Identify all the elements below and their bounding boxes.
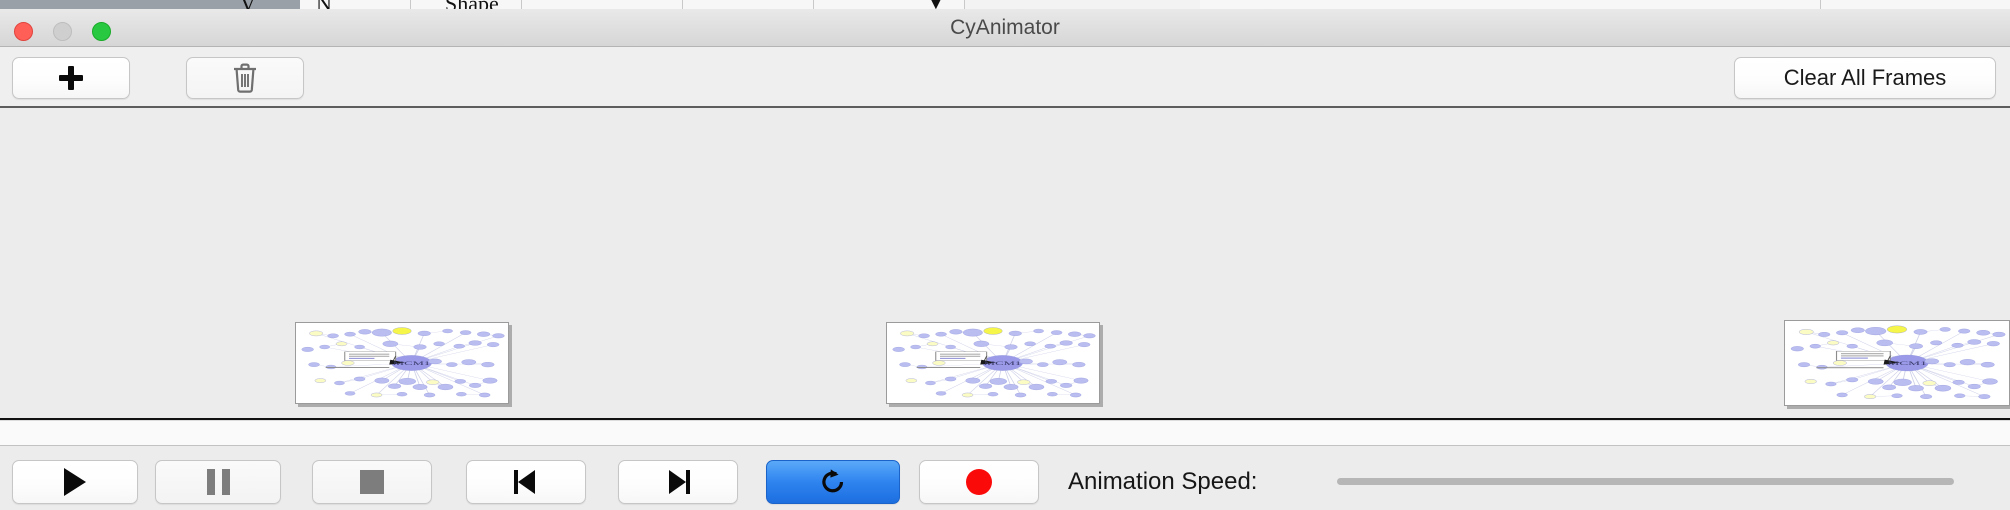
stop-icon [360, 470, 384, 494]
skip-to-start-button[interactable] [466, 460, 586, 504]
hub-node-label: MCM1 [984, 361, 1022, 366]
pause-icon [207, 469, 230, 495]
hub-node-label: MCM1 [1887, 361, 1926, 366]
hub-node-label: MCM1 [393, 361, 431, 366]
animation-speed-slider[interactable] [1337, 478, 1954, 485]
skip-forward-icon [665, 469, 691, 495]
horizontal-scrollbar[interactable] [0, 420, 2010, 446]
record-icon [966, 469, 992, 495]
timeline-frame-thumbnail[interactable]: MCM1 [886, 322, 1100, 404]
stop-button[interactable] [312, 460, 432, 504]
network-graph: MCM1 [296, 323, 508, 403]
add-frame-button[interactable] [12, 57, 130, 99]
plus-icon [59, 66, 83, 90]
skip-back-icon [513, 469, 539, 495]
network-graph: MCM1 [1785, 321, 2009, 405]
loop-button[interactable] [766, 460, 900, 504]
timeline-frame-thumbnail[interactable]: MCM1 [1784, 320, 2010, 406]
play-button[interactable] [12, 460, 138, 504]
delete-frame-button[interactable] [186, 57, 304, 99]
play-icon [64, 468, 86, 496]
skip-to-end-button[interactable] [618, 460, 738, 504]
loop-icon [818, 467, 848, 497]
pause-button[interactable] [155, 460, 281, 504]
timeline-frame-thumbnail[interactable]: MCM1 [295, 322, 509, 404]
animation-speed-label: Animation Speed: [1068, 460, 1257, 504]
clear-all-frames-button[interactable]: Clear All Frames [1734, 57, 1996, 99]
record-button[interactable] [919, 460, 1039, 504]
title-bar: CyAnimator [0, 9, 2010, 47]
window-title: CyAnimator [0, 9, 2010, 47]
network-graph: MCM1 [887, 323, 1099, 403]
trash-icon [232, 63, 258, 93]
cyanimator-window: V N ▼ Shape CyAnimator Clear All Frames … [0, 0, 2010, 510]
timeline-panel[interactable]: MCM1MCM1MCM1 2131415161718 Seconds [0, 108, 2010, 420]
clear-all-frames-label: Clear All Frames [1784, 65, 1947, 91]
